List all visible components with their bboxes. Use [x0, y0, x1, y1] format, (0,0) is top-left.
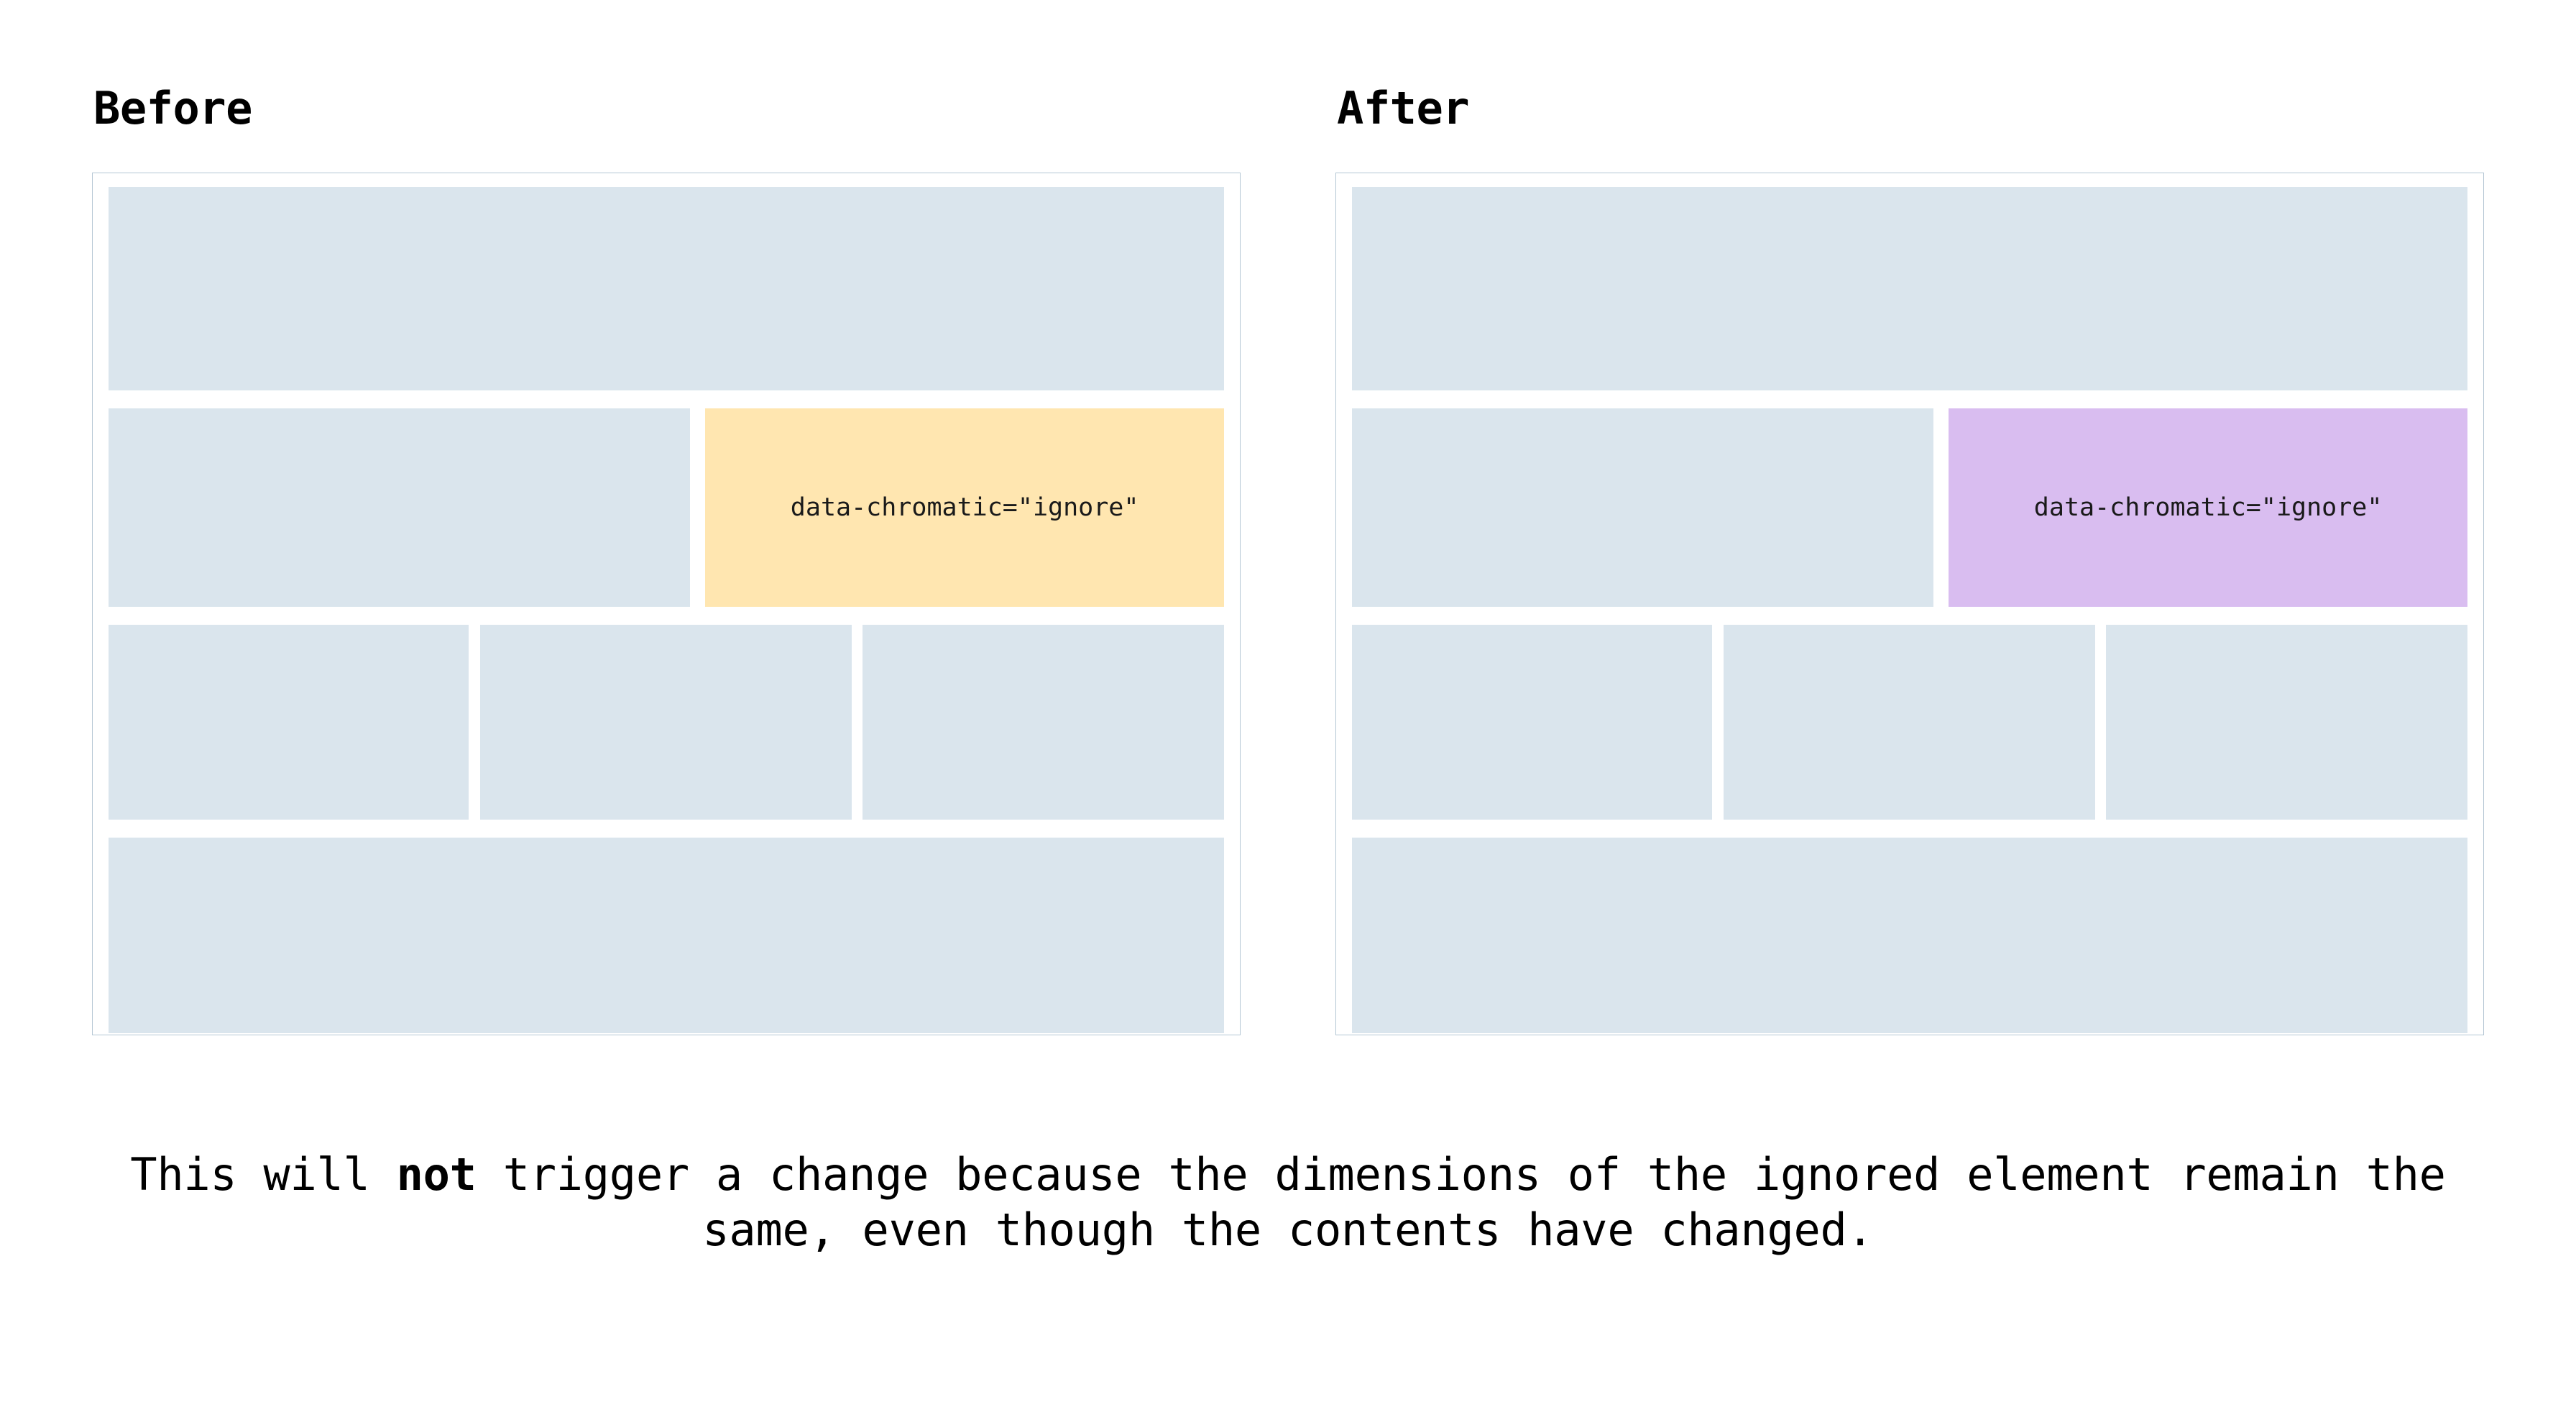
before-row-4 [109, 838, 1224, 1033]
before-after-comparison: Before data-chromatic="ignore" [92, 86, 2484, 1035]
after-row-1 [1352, 187, 2467, 390]
placeholder-block [1352, 408, 1933, 607]
placeholder-block [2106, 625, 2467, 820]
ignored-element-label: data-chromatic="ignore" [791, 495, 1139, 521]
placeholder-block [109, 187, 1224, 390]
placeholder-block [109, 838, 1224, 1033]
caption-part-2: trigger a change because the dimensions … [477, 1148, 2446, 1256]
placeholder-block [1352, 625, 1712, 820]
ignored-element-label: data-chromatic="ignore" [2034, 495, 2383, 521]
placeholder-block [1352, 838, 2467, 1033]
caption-emphasis: not [397, 1148, 477, 1201]
caption-part-1: This will [130, 1148, 396, 1201]
before-row-1 [109, 187, 1224, 390]
after-column: After data-chromatic="ignore" [1335, 86, 2484, 1035]
before-heading: Before [93, 86, 1241, 131]
comparison-figure: Before data-chromatic="ignore" [0, 0, 2576, 1402]
before-row-3 [109, 625, 1224, 820]
placeholder-block [1352, 187, 2467, 390]
after-heading: After [1337, 86, 2484, 131]
before-row-2: data-chromatic="ignore" [109, 408, 1224, 607]
placeholder-block [862, 625, 1224, 820]
placeholder-block [109, 408, 690, 607]
placeholder-block [1724, 625, 2095, 820]
ignored-element-after: data-chromatic="ignore" [1949, 408, 2467, 607]
after-row-3 [1352, 625, 2467, 820]
ignored-element-before: data-chromatic="ignore" [705, 408, 1224, 607]
after-panel: data-chromatic="ignore" [1335, 173, 2484, 1035]
before-panel: data-chromatic="ignore" [92, 173, 1241, 1035]
figure-caption: This will not trigger a change because t… [0, 1147, 2576, 1258]
placeholder-block [480, 625, 852, 820]
before-column: Before data-chromatic="ignore" [92, 86, 1241, 1035]
placeholder-block [109, 625, 469, 820]
after-row-4 [1352, 838, 2467, 1033]
after-row-2: data-chromatic="ignore" [1352, 408, 2467, 607]
